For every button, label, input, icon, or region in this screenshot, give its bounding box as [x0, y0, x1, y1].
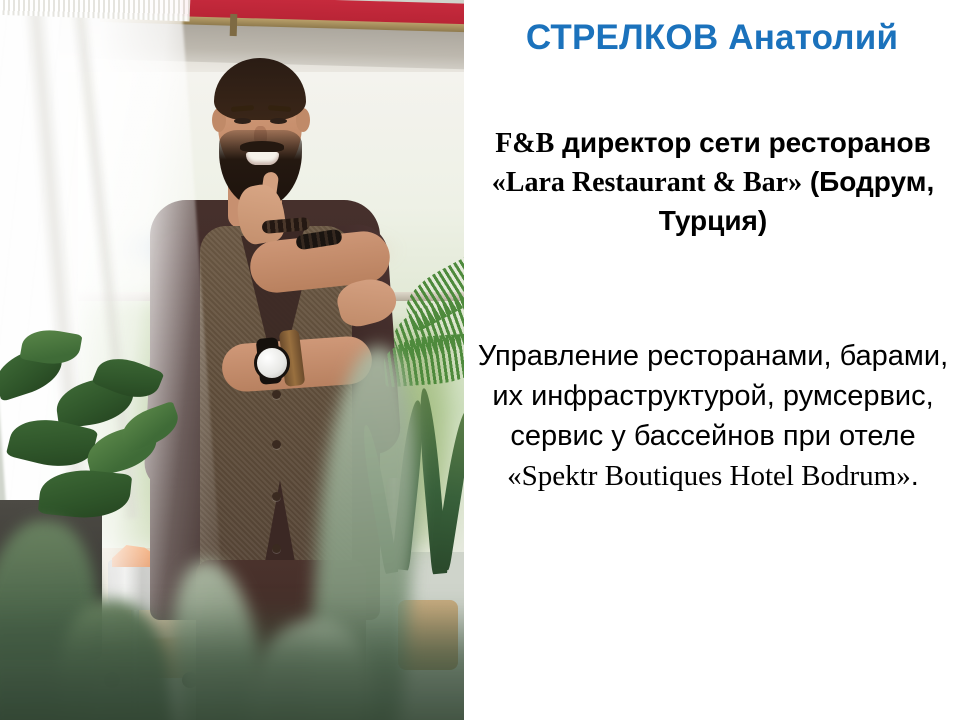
speaker-duties-text: Управление ресторанами, барами, их инфра…	[470, 336, 956, 496]
presentation-slide: СТРЕЛКОВ Анатолий F&B директор сети рест…	[0, 0, 960, 720]
duties-hotel-name: «Spektr Boutiques Hotel Bodrum»	[507, 460, 911, 492]
eye-right	[270, 118, 287, 124]
role-brand-name: «Lara Restaurant & Bar»	[492, 167, 802, 198]
vest-button	[272, 390, 281, 399]
vest-button	[272, 492, 281, 501]
text-column: СТРЕЛКОВ Анатолий F&B директор сети рест…	[464, 0, 960, 720]
white-wristwatch	[254, 345, 290, 381]
duties-cyrillic-part: Управление ресторанами, барами, их инфра…	[478, 340, 948, 452]
role-cyrillic-mid: директор сети ресторанов	[554, 127, 931, 158]
speaker-name-heading: СТРЕЛКОВ Анатолий	[464, 18, 960, 58]
smiling-teeth	[246, 152, 279, 165]
vest-button	[272, 544, 281, 553]
speaker-role-text: F&B директор сети ресторанов «Lara Resta…	[470, 124, 956, 240]
beam-peg	[230, 14, 238, 36]
duties-trailing-period: .	[911, 460, 919, 492]
speaker-photo	[0, 0, 464, 720]
vest-button	[272, 440, 281, 449]
role-latin-prefix: F&B	[495, 128, 554, 159]
eye-left	[234, 118, 251, 124]
mustache	[240, 141, 284, 152]
foreground-bottom-shade	[0, 600, 464, 720]
